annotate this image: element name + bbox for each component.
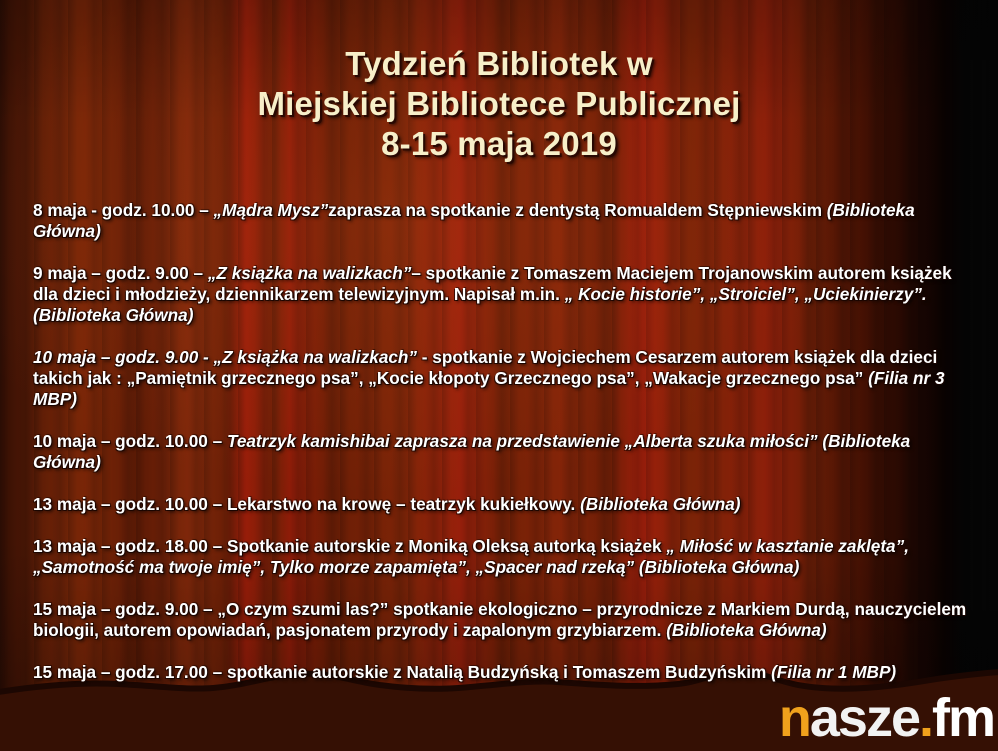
event-entry: 13 maja – godz. 18.00 – Spotkanie autors… [33,536,967,578]
title-line-1: Tydzień Bibliotek w [0,44,998,84]
event-entry: 10 maja – godz. 10.00 – Teatrzyk kamishi… [33,431,967,473]
event-entry: 15 maja – godz. 9.00 – „O czym szumi las… [33,599,967,641]
poster-title: Tydzień Bibliotek w Miejskiej Bibliotece… [0,44,998,164]
watermark-asze: asze [810,688,919,748]
event-entry: 13 maja – godz. 10.00 – Lekarstwo na kro… [33,494,967,515]
nasze-fm-watermark: nasze.fm [779,691,994,745]
poster-canvas: Tydzień Bibliotek w Miejskiej Bibliotece… [0,0,998,751]
event-list: 8 maja - godz. 10.00 – „Mądra Mysz”zapra… [33,183,967,683]
event-entry: 9 maja – godz. 9.00 – „Z książka na wali… [33,263,967,326]
watermark-fm: fm [932,688,994,748]
event-entry: 15 maja – godz. 17.00 – spotkanie autors… [33,662,967,683]
title-line-2: Miejskiej Bibliotece Publicznej [0,84,998,124]
watermark-dot: . [919,688,932,748]
title-line-3: 8-15 maja 2019 [0,124,998,164]
event-entry: 8 maja - godz. 10.00 – „Mądra Mysz”zapra… [33,200,967,242]
event-entry: 10 maja – godz. 9.00 - „Z książka na wal… [33,347,967,410]
watermark-n: n [779,688,810,748]
